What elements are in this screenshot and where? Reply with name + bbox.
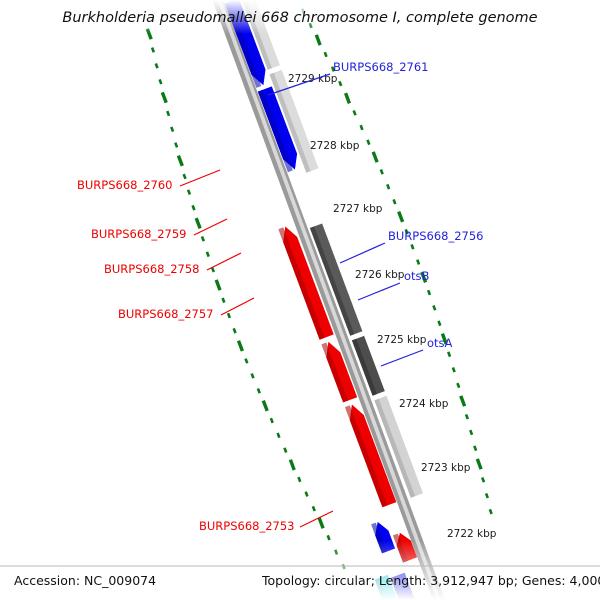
tick-dash-minor <box>184 174 186 179</box>
tick-dash-minor <box>223 298 225 303</box>
tick-dash-minor <box>258 389 260 394</box>
tick-dash-minor <box>228 313 230 318</box>
leader-line-otsA <box>381 350 423 366</box>
tick-dash-minor <box>339 81 341 86</box>
tick-dash-minor <box>252 374 254 379</box>
tick-dash-minor <box>482 478 484 483</box>
axis-tick-label-1: 2728 kbp <box>310 140 360 152</box>
tick-dash-minor <box>306 492 308 497</box>
tick-dash-major <box>461 396 465 406</box>
chromosome-backbone[interactable] <box>205 0 445 600</box>
leader-line-BURPS668_2756 <box>340 243 385 263</box>
tick-dash-minor <box>448 352 450 357</box>
tick-dash-major <box>319 518 323 528</box>
tick-dash-major <box>477 459 481 469</box>
tick-dash-minor <box>202 237 204 242</box>
tick-dash-major <box>216 280 220 290</box>
tick-dash-minor <box>457 383 459 388</box>
leader-line-BURPS668_2757 <box>221 298 254 315</box>
tick-dash-minor <box>474 446 476 451</box>
axis-tick-label-2: 2727 kbp <box>333 203 383 215</box>
gene-label-BURPS668_2760[interactable]: BURPS668_2760 <box>77 178 173 192</box>
gene-label-otsB[interactable]: otsB <box>404 269 430 283</box>
axis-tick-label-5: 2724 kbp <box>399 398 449 410</box>
tick-dash-minor <box>433 306 435 311</box>
tick-dash-minor <box>167 111 169 116</box>
leader-line-BURPS668_2758 <box>207 253 241 270</box>
tick-dash-minor <box>313 506 315 511</box>
axis-tick-label-0: 2729 kbp <box>288 73 338 85</box>
tick-dash-major <box>373 152 377 162</box>
tick-dash-minor <box>368 140 370 145</box>
tick-dash-minor <box>470 430 472 435</box>
axis-tick-label-3: 2726 kbp <box>355 269 405 281</box>
tick-dash-minor <box>188 190 190 195</box>
tick-dash-minor <box>428 290 430 295</box>
bottom-fade-mask <box>0 540 600 600</box>
tick-dash-minor <box>171 127 173 132</box>
leader-line-otsB <box>358 283 400 300</box>
leader-line-BURPS668_2753 <box>300 511 333 527</box>
axis-tick-label-6: 2723 kbp <box>421 462 471 474</box>
accession-label: Accession: NC_009074 <box>14 573 156 588</box>
tick-dash-major <box>290 460 294 470</box>
tick-dash-major <box>196 218 200 228</box>
genome-viewer: 2729 kbp2728 kbp2727 kbp2726 kbp2725 kbp… <box>0 0 600 600</box>
tick-dash-major <box>239 341 243 351</box>
tick-dash-minor <box>325 52 327 57</box>
tick-dash-major <box>399 212 403 222</box>
gene-label-BURPS668_2761[interactable]: BURPS668_2761 <box>333 60 429 74</box>
tick-dash-minor <box>354 111 356 116</box>
tick-dash-minor <box>381 170 383 175</box>
tick-dash-minor <box>361 125 363 130</box>
genome-canvas[interactable]: 2729 kbp2728 kbp2727 kbp2726 kbp2725 kbp… <box>0 0 600 600</box>
gene-label-BURPS668_2759[interactable]: BURPS668_2759 <box>91 227 187 241</box>
tick-dash-major <box>316 35 320 45</box>
tick-dash-minor <box>387 184 389 189</box>
tick-dash-minor <box>152 48 154 53</box>
tick-dash-minor <box>394 199 396 204</box>
gene-label-BURPS668_2757[interactable]: BURPS668_2757 <box>118 307 214 321</box>
tick-dash-minor <box>490 509 492 514</box>
tick-dash-minor <box>246 359 248 364</box>
tick-dash-minor <box>175 143 177 148</box>
tick-dash-major <box>178 156 182 166</box>
tick-dash-minor <box>160 79 162 84</box>
tick-dash-minor <box>486 493 488 498</box>
tick-dash-minor <box>278 433 280 438</box>
tick-dash-minor <box>439 321 441 326</box>
tick-dash-minor <box>466 414 468 419</box>
tick-dash-minor <box>234 328 236 333</box>
tick-dash-minor <box>285 448 287 453</box>
tick-dash-minor <box>453 368 455 373</box>
gene-label-otsA[interactable]: otsA <box>427 336 453 350</box>
tick-dash-minor <box>207 252 209 257</box>
tick-dash-minor <box>412 245 414 250</box>
tick-dash-minor <box>299 477 301 482</box>
tick-dash-minor <box>156 64 158 69</box>
axis-tick-label-7: 2722 kbp <box>447 528 497 540</box>
tick-dash-minor <box>271 418 273 423</box>
gene-label-BURPS668_2753[interactable]: BURPS668_2753 <box>199 519 295 533</box>
page-title: Burkholderia pseudomallei 668 chromosome… <box>62 10 537 26</box>
genome-stats-label: Topology: circular; Length: 3,912,947 bp… <box>261 573 600 588</box>
tick-dash-minor <box>193 205 195 210</box>
axis-tick-label-4: 2725 kbp <box>377 334 427 346</box>
tick-dash-minor <box>328 535 330 540</box>
tick-dash-minor <box>417 260 419 265</box>
tick-dash-major <box>263 401 267 411</box>
tick-dash-major <box>346 93 350 103</box>
gene-label-BURPS668_2758[interactable]: BURPS668_2758 <box>104 262 200 276</box>
gene-label-BURPS668_2756[interactable]: BURPS668_2756 <box>388 229 484 243</box>
tick-dash-major <box>162 92 166 102</box>
